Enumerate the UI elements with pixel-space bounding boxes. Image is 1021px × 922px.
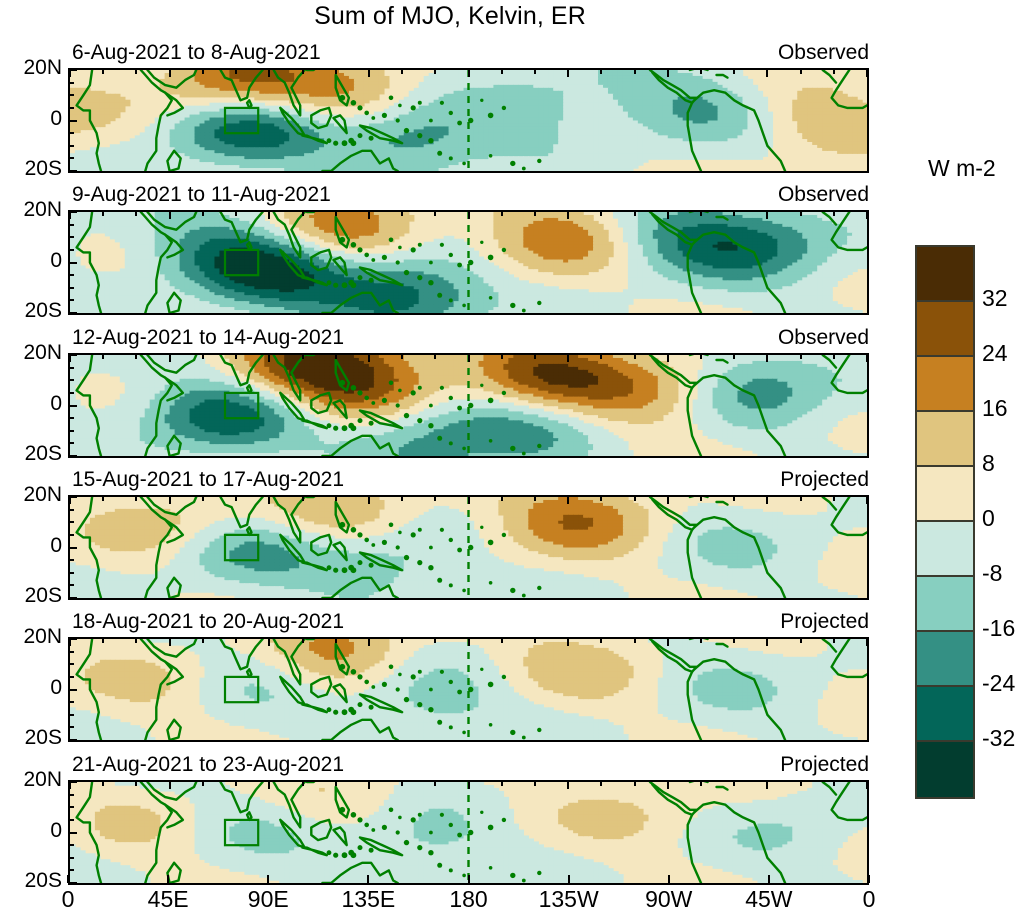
colorbar-band-4 [917,412,973,467]
y-axis-label-2-1: 20N [0,198,62,222]
y-axis-label-5-2: 0 [0,676,62,700]
colorbar-band-6 [917,522,973,577]
anomaly-map-4 [70,497,867,598]
panel-title-5: 18-Aug-2021 to 20-Aug-2021 [72,610,344,634]
anomaly-map-2 [70,212,867,313]
y-axis-label-4-1: 20N [0,483,62,507]
colorbar-band-3 [917,357,973,412]
y-axis-label-5-1: 20N [0,625,62,649]
colorbar-tick-neg24: -24 [982,670,1015,697]
x-axis-label-4: 135E [333,886,403,913]
colorbar-band-9 [917,687,973,742]
x-axis-label-1: 0 [33,886,103,913]
figure-root: Sum of MJO, Kelvin, ER 6-Aug-2021 to 8-A… [0,0,1021,922]
panel-status-6: Projected [780,753,869,777]
colorbar-band-5 [917,467,973,522]
map-panel-1[interactable] [68,68,869,173]
colorbar-band-10 [917,742,973,797]
panel-title-3: 12-Aug-2021 to 14-Aug-2021 [72,326,344,350]
x-axis-label-9: 0 [834,886,904,913]
colorbar-tick-neg16: -16 [982,615,1015,642]
x-axis-label-3: 90E [233,886,303,913]
panel-status-3: Observed [778,326,869,350]
colorbar [915,245,975,799]
colorbar-units-label: W m-2 [928,155,996,182]
panel-title-2: 9-Aug-2021 to 11-Aug-2021 [72,183,331,207]
y-axis-label-1-3: 20S [0,157,62,181]
anomaly-map-1 [70,70,867,171]
panel-title-4: 15-Aug-2021 to 17-Aug-2021 [72,468,344,492]
map-panel-3[interactable] [68,353,869,458]
colorbar-tick-24: 24 [982,340,1008,367]
x-axis-label-5: 180 [434,886,504,913]
y-axis-label-3-2: 0 [0,392,62,416]
colorbar-tick-16: 16 [982,395,1008,422]
colorbar-tick-neg32: -32 [982,725,1015,752]
colorbar-tick-8: 8 [982,450,995,477]
y-axis-label-4-3: 20S [0,584,62,608]
x-axis-ticks [68,875,869,883]
panel-title-6: 21-Aug-2021 to 23-Aug-2021 [72,753,344,777]
map-panel-4[interactable] [68,495,869,600]
map-panel-6[interactable] [68,780,869,885]
y-axis-label-4-2: 0 [0,534,62,558]
y-axis-label-2-2: 0 [0,249,62,273]
x-axis-label-6: 135W [534,886,604,913]
figure-title: Sum of MJO, Kelvin, ER [0,2,900,31]
panel-status-4: Projected [780,468,869,492]
x-axis-label-2: 45E [133,886,203,913]
colorbar-band-7 [917,577,973,632]
anomaly-map-3 [70,355,867,456]
anomaly-map-6 [70,782,867,883]
anomaly-map-5 [70,639,867,740]
colorbar-tick-0: 0 [982,505,995,532]
map-panel-5[interactable] [68,637,869,742]
panel-status-2: Observed [778,183,869,207]
x-axis-label-8: 45W [734,886,804,913]
panel-status-1: Observed [778,41,869,65]
y-axis-label-6-1: 20N [0,768,62,792]
y-axis-label-1-1: 20N [0,56,62,80]
panel-title-1: 6-Aug-2021 to 8-Aug-2021 [72,41,321,65]
panel-status-5: Projected [780,610,869,634]
colorbar-band-2 [917,302,973,357]
x-axis-label-7: 90W [634,886,704,913]
y-axis-label-1-2: 0 [0,107,62,131]
colorbar-band-8 [917,632,973,687]
y-axis-label-2-3: 20S [0,299,62,323]
colorbar-tick-32: 32 [982,285,1008,312]
y-axis-label-3-3: 20S [0,442,62,466]
map-panel-2[interactable] [68,210,869,315]
y-axis-label-5-3: 20S [0,726,62,750]
y-axis-label-6-2: 0 [0,819,62,843]
colorbar-band-1 [917,247,973,302]
colorbar-tick-neg8: -8 [982,560,1002,587]
y-axis-label-3-1: 20N [0,341,62,365]
